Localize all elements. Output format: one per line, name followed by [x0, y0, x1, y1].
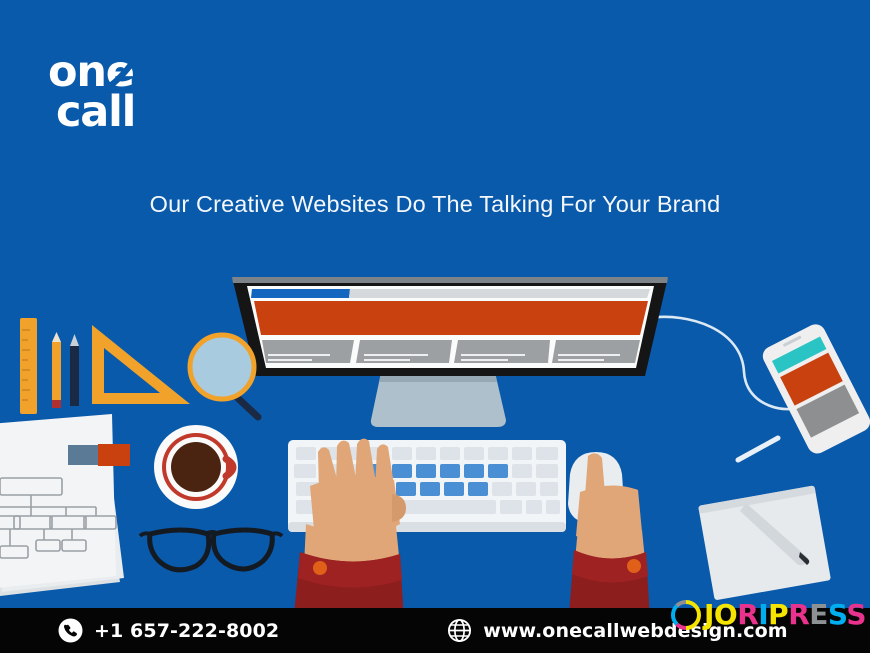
papers-stack	[0, 414, 130, 596]
footer-website-item[interactable]: www.onecallwebdesign.com	[447, 618, 787, 643]
ruler-icon	[20, 318, 37, 414]
footer-phone-item[interactable]: +1 657-222-8002	[58, 618, 279, 643]
logo-text-one: one	[48, 52, 228, 92]
coffee-cup-icon	[154, 425, 238, 509]
contact-footer: +1 657-222-8002 www.onecallwebdesign.com	[0, 608, 870, 653]
monitor-top-edge	[232, 277, 668, 283]
sleeve-button-icon	[313, 561, 327, 575]
sleeve-button-icon	[627, 559, 641, 573]
notepad	[698, 485, 831, 600]
screen-navbar	[251, 289, 350, 298]
footer-website-url: www.onecallwebdesign.com	[483, 620, 787, 642]
screen-topbar	[349, 289, 650, 298]
footer-phone-number: +1 657-222-8002	[94, 620, 279, 642]
paper-tag-blue	[68, 445, 98, 465]
promo-banner: one call Our Creative Websites Do The Ta…	[0, 0, 870, 653]
page-title: Our Creative Websites Do The Talking For…	[0, 191, 870, 218]
globe-icon	[447, 618, 472, 643]
brand-logo[interactable]: one call	[48, 52, 228, 144]
screen-hero-banner	[254, 301, 648, 335]
paper-tag-orange	[98, 444, 130, 466]
pen-icon	[70, 334, 79, 406]
phone-icon	[58, 618, 83, 643]
logo-text-call: call	[48, 92, 228, 132]
pencil-icon	[52, 332, 61, 408]
